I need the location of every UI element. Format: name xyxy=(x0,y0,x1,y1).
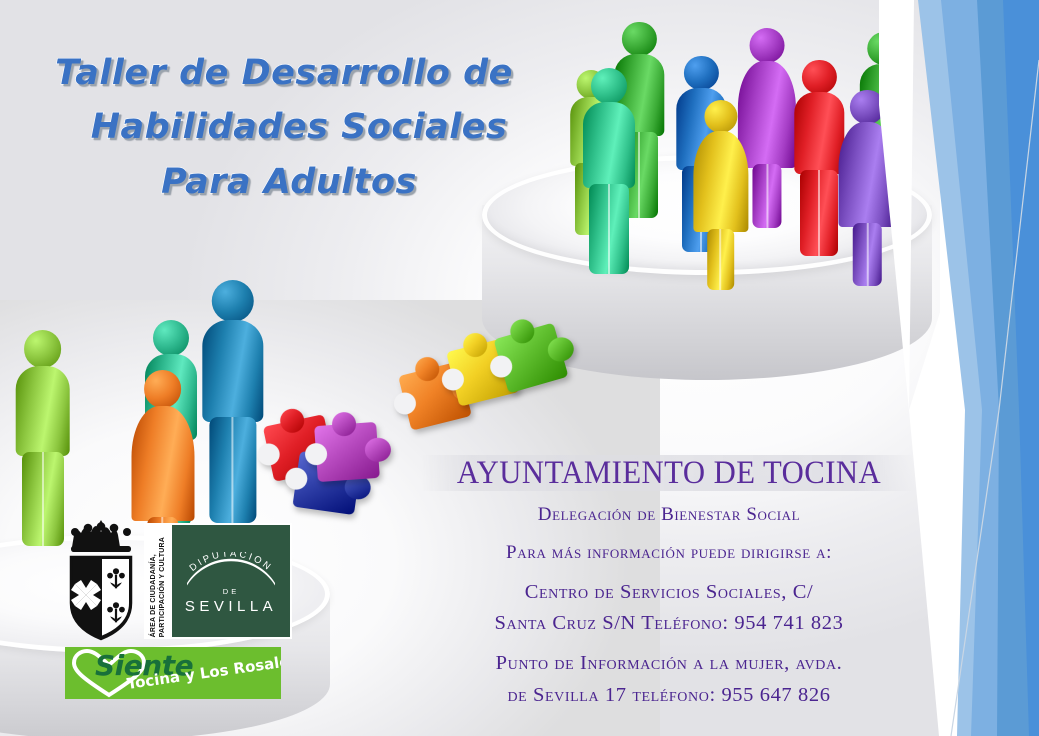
person-torso xyxy=(131,406,194,522)
person-legs xyxy=(209,417,256,523)
person-bottom-3 xyxy=(196,280,269,528)
diputacion-sevilla-label: SEVILLA xyxy=(185,598,277,615)
person-head xyxy=(684,56,718,90)
diputacion-arc-text: DIPUTACION xyxy=(179,552,283,586)
diputacion-area-vertical-text: ÁREA DE CIUDADANÍA, PARTICIPACIÓN Y CULT… xyxy=(146,525,172,637)
person-head xyxy=(802,60,836,94)
person-legs xyxy=(753,164,782,228)
contact-line-3: Centro de Servicios Sociales, C/ xyxy=(404,578,934,607)
siente-logo: Siente Tocina y Los Rosales xyxy=(65,647,281,699)
person-legs xyxy=(589,184,629,274)
contact-line-2: Para más información puede dirigirse a: xyxy=(404,540,934,567)
person-legs xyxy=(707,229,735,290)
person-legs xyxy=(853,223,882,286)
poster-title: Taller de Desarrollo de Habilidades Soci… xyxy=(24,46,544,209)
organization-title: AYUNTAMIENTO DE TOCINA xyxy=(423,455,916,491)
person-torso xyxy=(693,131,748,232)
person-top-8 xyxy=(838,90,897,290)
coat-of-arms-icon xyxy=(62,517,140,643)
title-line-1: Taller de Desarrollo de xyxy=(24,46,544,100)
person-top-2 xyxy=(578,68,640,278)
diputacion-sevilla-logo: ÁREA DE CIUDADANÍA, PARTICIPACIÓN Y CULT… xyxy=(144,523,292,639)
diputacion-green-box: DIPUTACION DE SEVILLA xyxy=(172,525,290,637)
person-head xyxy=(211,280,253,322)
logo-strip: ÁREA DE CIUDADANÍA, PARTICIPACIÓN Y CULT… xyxy=(58,514,318,704)
contact-line-5: Punto de Información a la mujer, avda. xyxy=(404,649,934,678)
person-legs xyxy=(800,170,838,256)
diputacion-de-label: DE xyxy=(223,587,239,596)
person-torso xyxy=(583,102,635,188)
contact-block: AYUNTAMIENTO DE TOCINA Delegación de Bie… xyxy=(404,455,934,710)
poster-canvas: Taller de Desarrollo de Habilidades Soci… xyxy=(0,0,1039,736)
person-head xyxy=(144,370,182,408)
person-top-5 xyxy=(692,100,749,293)
puzzle-piece-2 xyxy=(314,422,380,482)
person-head xyxy=(704,100,737,133)
person-torso xyxy=(795,92,844,174)
diputacion-area-label: ÁREA DE CIUDADANÍA, PARTICIPACIÓN Y CULT… xyxy=(150,537,168,637)
contact-line-1: Delegación de Bienestar Social xyxy=(404,502,934,529)
contact-line-6: de Sevilla 17 teléfono: 955 647 826 xyxy=(404,681,934,710)
person-head xyxy=(850,90,884,124)
person-head xyxy=(591,68,627,104)
title-line-2: Habilidades Sociales xyxy=(24,100,544,154)
title-line-3: Para Adultos xyxy=(24,155,544,209)
person-torso xyxy=(839,122,896,227)
person-torso xyxy=(202,320,263,421)
person-head xyxy=(622,22,656,56)
person-head xyxy=(750,28,785,63)
person-head xyxy=(867,32,900,65)
person-head xyxy=(153,320,189,356)
person-head xyxy=(24,330,62,368)
person-torso xyxy=(15,366,70,456)
contact-line-4: Santa Cruz S/N Teléfono: 954 741 823 xyxy=(404,609,934,638)
